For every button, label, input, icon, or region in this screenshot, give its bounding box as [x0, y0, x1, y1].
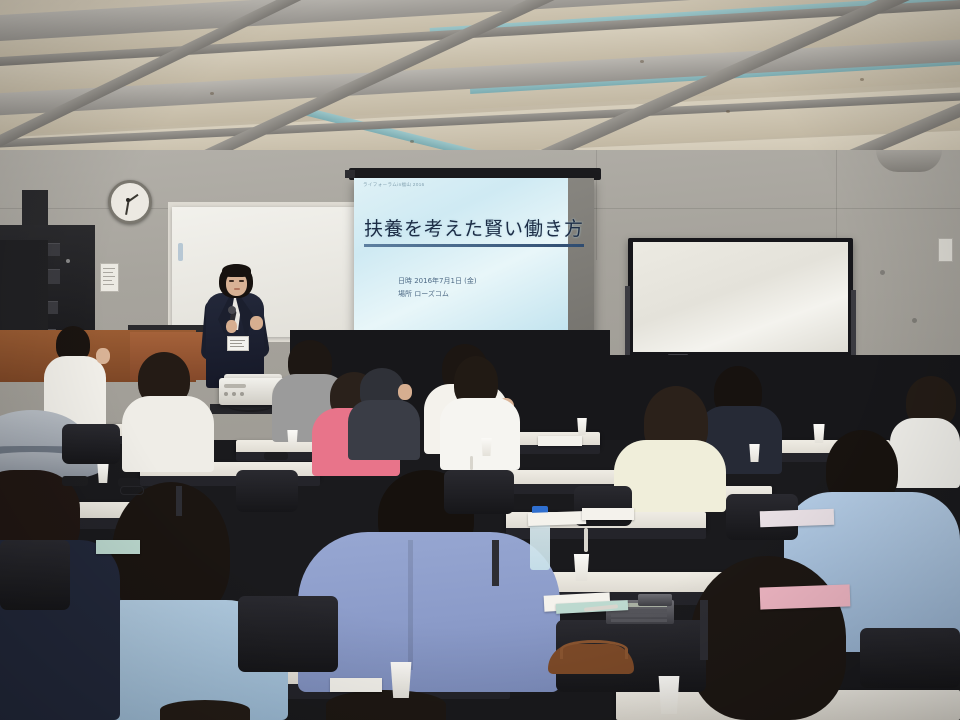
presenter-right-hand: [250, 316, 263, 330]
av-rack-top-unit: [22, 190, 48, 226]
slide-divider-rule: [364, 244, 584, 247]
handout-paper: [582, 508, 634, 520]
wall-clock: [108, 180, 152, 224]
chair: [238, 596, 338, 672]
handout-paper: [760, 584, 851, 609]
posted-notice: [100, 263, 119, 292]
handout-paper: [330, 678, 382, 692]
whiteboard-leg: [625, 286, 630, 362]
slide-title: 扶養を考えた賢い働き方: [354, 214, 594, 241]
pen: [470, 456, 473, 470]
eyeglasses: [120, 486, 144, 495]
desk-leg: [700, 600, 708, 660]
name-badge: [227, 336, 249, 351]
slide-date-line: 日時 2016年7月1日 (金): [398, 275, 477, 288]
whiteboard-right-surface[interactable]: [633, 242, 848, 352]
presenter-bangs: [222, 264, 251, 277]
handout-paper: [528, 511, 586, 526]
desk-leg: [492, 540, 499, 586]
chair: [62, 424, 120, 464]
handout-paper: [96, 540, 140, 554]
microphone-head-icon: [228, 306, 236, 314]
handout-paper: [538, 436, 582, 446]
handout-paper: [760, 509, 835, 528]
chair: [444, 470, 514, 514]
calculator[interactable]: [638, 594, 672, 606]
slide-header-text: ライフォーラムin福山 2016: [363, 182, 425, 188]
screen-roller-cap: [345, 170, 355, 178]
seminar-room-photo: ライフォーラムin福山 2016 扶養を考えた賢い働き方 日時 2016年7月1…: [0, 0, 960, 720]
chair: [860, 628, 960, 688]
desk-leg: [176, 486, 182, 516]
projector-cable: [228, 400, 272, 412]
light-switch-plate[interactable]: [938, 238, 953, 262]
chair: [0, 540, 70, 610]
smartphone[interactable]: [264, 452, 288, 460]
whiteboard-leg: [851, 290, 856, 364]
projected-slide: ライフォーラムin福山 2016 扶養を考えた賢い働き方 日時 2016年7月1…: [354, 178, 568, 340]
pen: [584, 528, 588, 552]
presenter-left-hand: [226, 320, 237, 333]
smartphone[interactable]: [62, 476, 88, 486]
slide-meta: 日時 2016年7月1日 (金) 場所 ローズコム: [398, 275, 477, 302]
chair: [236, 470, 298, 512]
slide-place-line: 場所 ローズコム: [398, 288, 477, 301]
bag-strap: [560, 640, 628, 659]
